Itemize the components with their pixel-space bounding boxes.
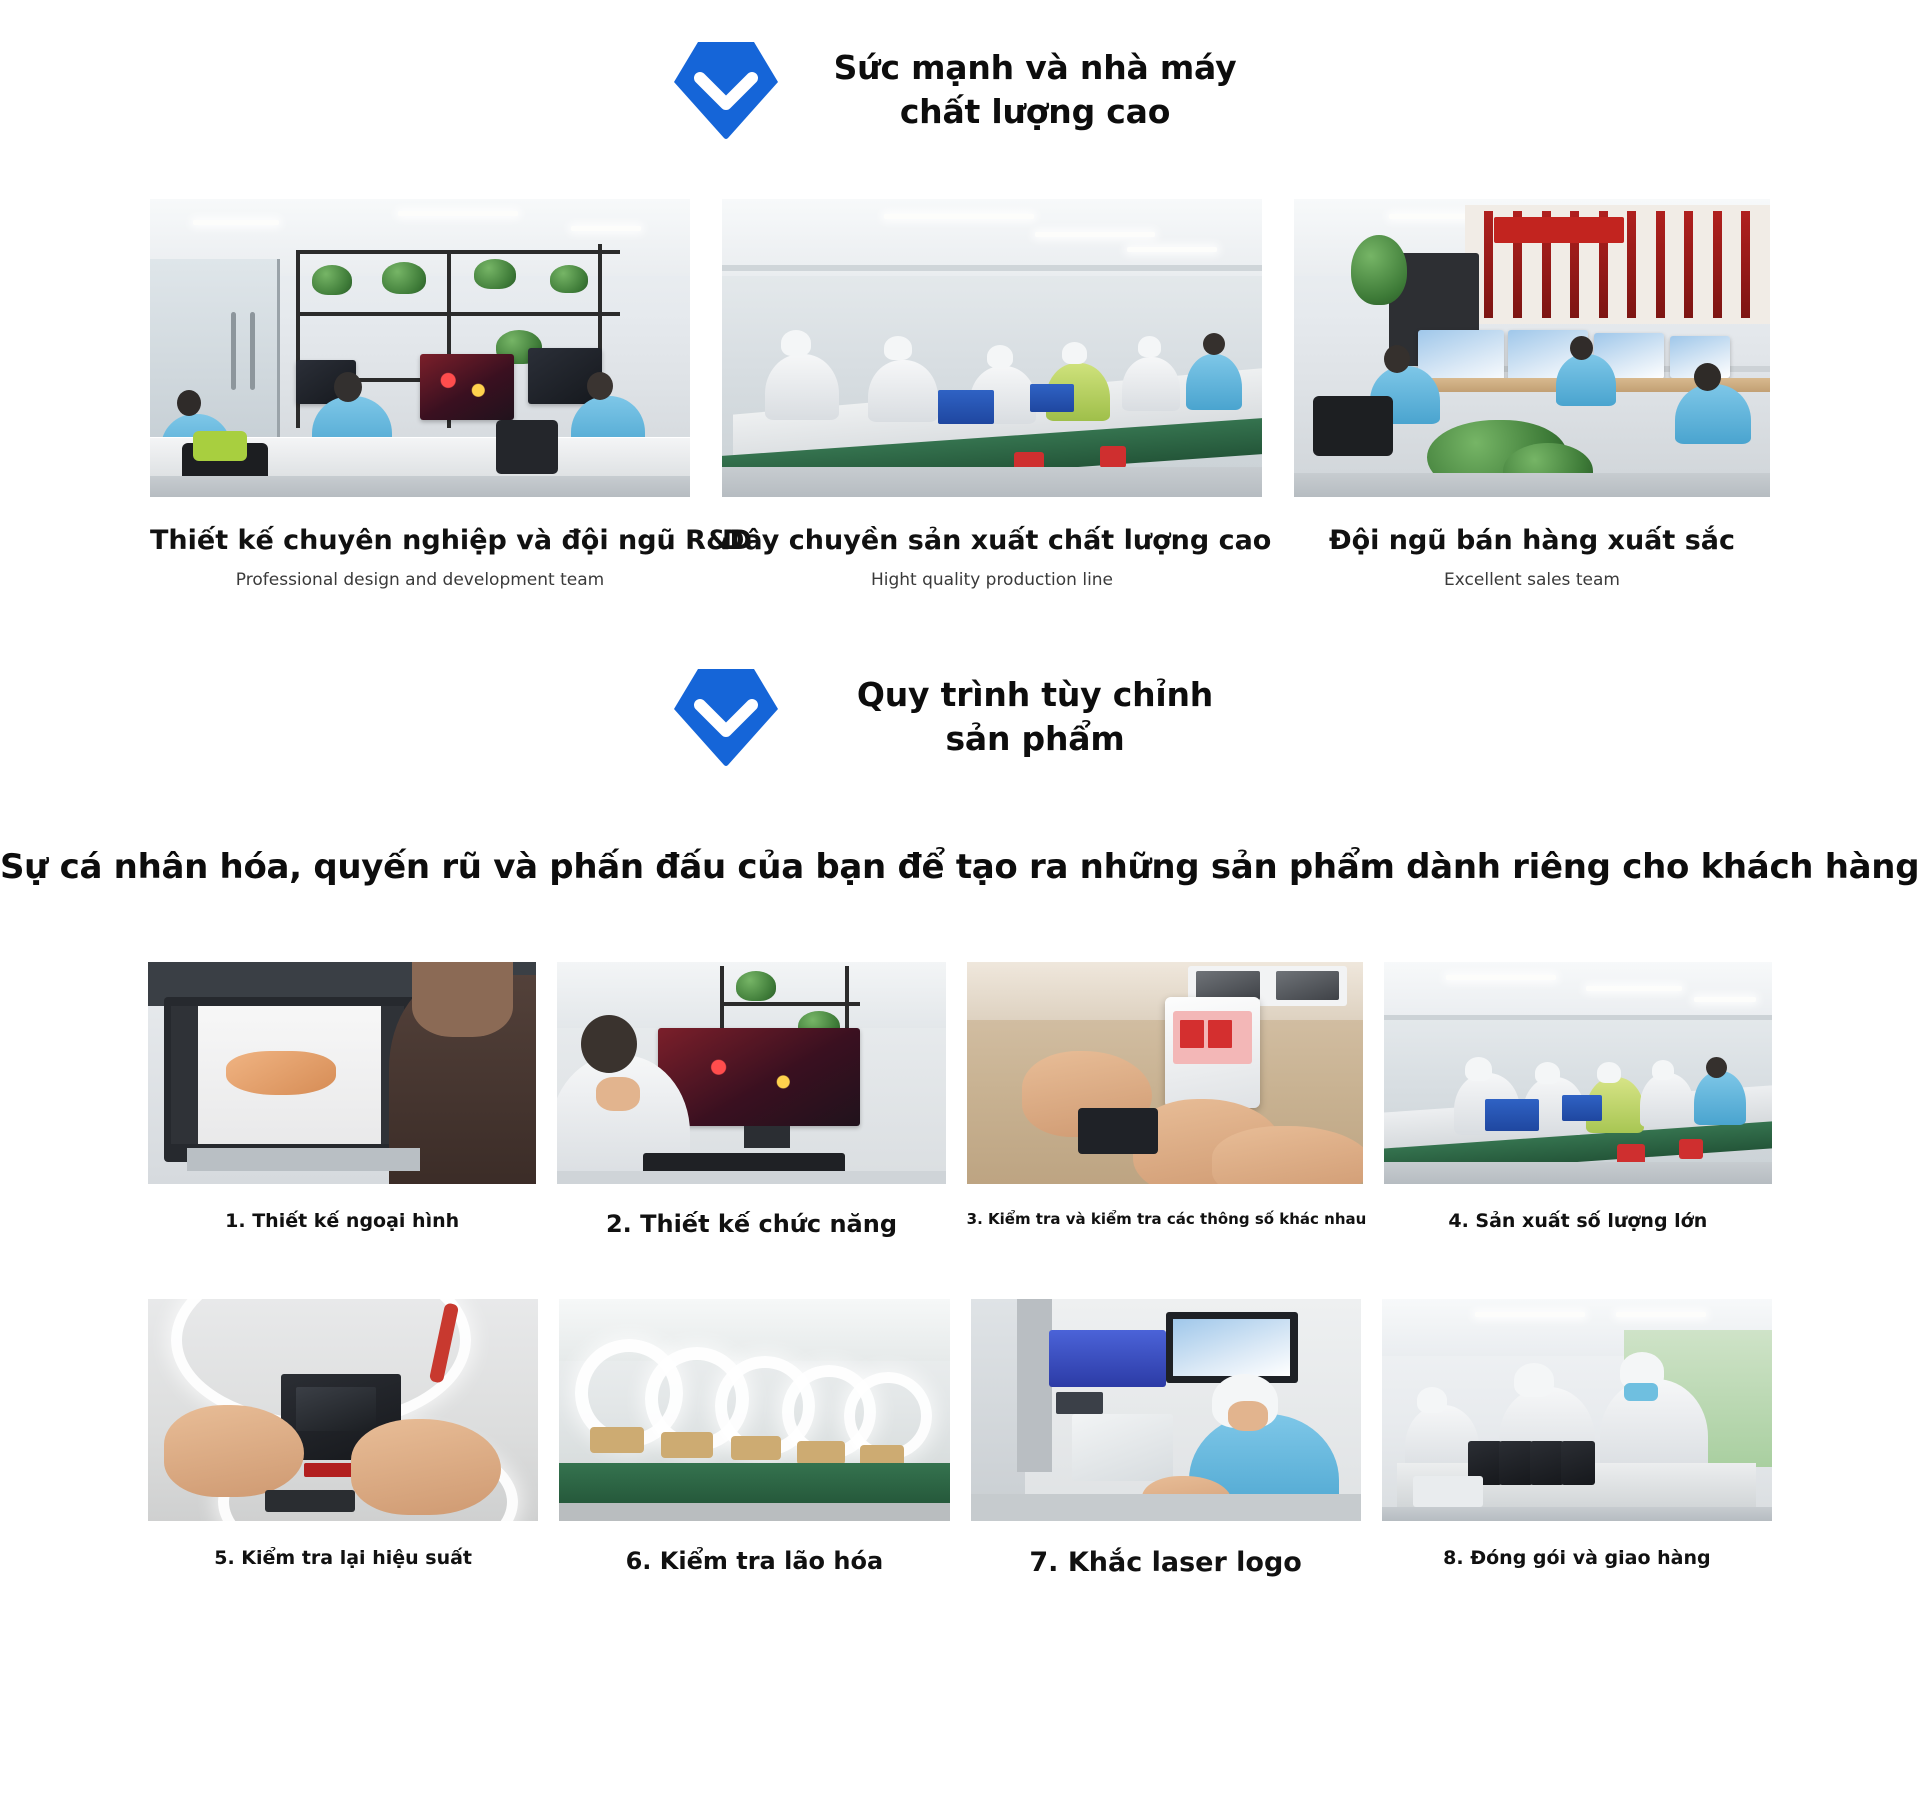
strength-card: Đội ngũ bán hàng xuất sắc Excellent sale… [1294, 199, 1770, 591]
process-step-card: 6. Kiểm tra lão hóa [559, 1299, 949, 1579]
process-step-label: 4. Sản xuất số lượng lớn [1384, 1210, 1772, 1233]
chevron-down-badge-icon [670, 665, 782, 769]
photo-sales-office [1294, 199, 1770, 497]
process-tagline: Sự cá nhân hóa, quyến rũ và phấn đấu của… [0, 847, 1920, 887]
strength-card-row: Thiết kế chuyên nghiệp và đội ngũ R&D Pr… [0, 199, 1920, 591]
strength-caption-vi: Đội ngũ bán hàng xuất sắc [1294, 524, 1770, 558]
photo-functional-design [557, 962, 945, 1184]
photo-production-line [722, 199, 1262, 497]
process-step-label: 5. Kiểm tra lại hiệu suất [148, 1547, 538, 1570]
process-step-label: 8. Đóng gói và giao hàng [1382, 1547, 1772, 1570]
section-title: Quy trình tùy chỉnh sản phẩm [820, 673, 1250, 760]
chevron-down-badge-icon [670, 38, 782, 142]
process-step-card: 5. Kiểm tra lại hiệu suất [148, 1299, 538, 1579]
photo-performance-retest [148, 1299, 538, 1521]
strength-caption-en: Excellent sales team [1294, 569, 1770, 591]
process-row-2: 5. Kiểm tra lại hiệu suất [0, 1299, 1920, 1579]
strength-caption-en: Hight quality production line [722, 569, 1262, 591]
strength-card: Thiết kế chuyên nghiệp và đội ngũ R&D Pr… [150, 199, 690, 591]
process-step-card: 7. Khắc laser logo [971, 1299, 1361, 1579]
photo-aging-test [559, 1299, 949, 1521]
process-step-label: 2. Thiết kế chức năng [557, 1210, 945, 1239]
process-step-card: 3. Kiểm tra và kiểm tra các thông số khá… [967, 962, 1363, 1239]
strength-caption-en: Professional design and development team [150, 569, 690, 591]
strength-card: Dây chuyền sản xuất chất lượng cao Hight… [722, 199, 1262, 591]
strength-caption-vi: Thiết kế chuyên nghiệp và đội ngũ R&D [150, 524, 690, 558]
process-row-1: 1. Thiết kế ngoại hình [0, 962, 1920, 1239]
section-title: Sức mạnh và nhà máy chất lượng cao [820, 46, 1250, 133]
photo-rd-office [150, 199, 690, 497]
strength-caption-vi: Dây chuyền sản xuất chất lượng cao [722, 524, 1262, 558]
process-step-label: 6. Kiểm tra lão hóa [559, 1547, 949, 1576]
section-header-strength: Sức mạnh và nhà máy chất lượng cao [0, 38, 1920, 142]
process-step-card: 1. Thiết kế ngoại hình [148, 962, 536, 1239]
process-step-label: 1. Thiết kế ngoại hình [148, 1210, 536, 1233]
photo-laser-engraving [971, 1299, 1361, 1521]
process-step-label: 7. Khắc laser logo [971, 1547, 1361, 1579]
process-step-card: 2. Thiết kế chức năng [557, 962, 945, 1239]
process-step-card: 8. Đóng gói và giao hàng [1382, 1299, 1772, 1579]
photo-mass-production [1384, 962, 1772, 1184]
photo-parameter-testing [967, 962, 1363, 1184]
process-step-card: 4. Sản xuất số lượng lớn [1384, 962, 1772, 1239]
product-detail-page: Sức mạnh và nhà máy chất lượng cao [0, 0, 1920, 1820]
process-step-label: 3. Kiểm tra và kiểm tra các thông số khá… [967, 1210, 1363, 1228]
photo-appearance-design [148, 962, 536, 1184]
photo-packing-delivery [1382, 1299, 1772, 1521]
section-header-process: Quy trình tùy chỉnh sản phẩm [0, 665, 1920, 769]
